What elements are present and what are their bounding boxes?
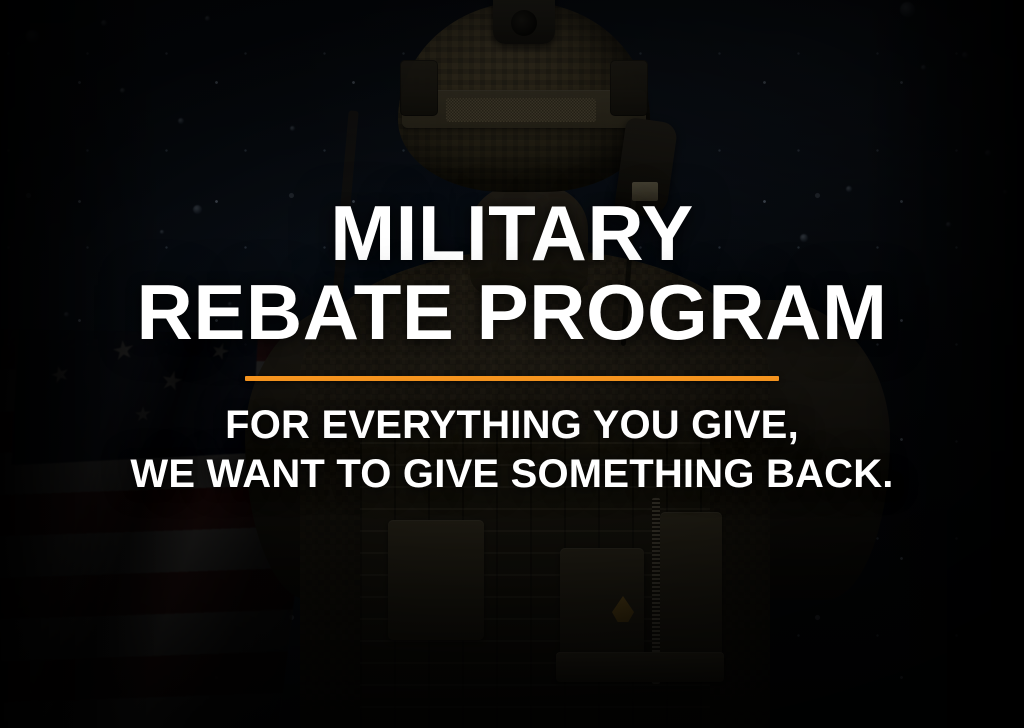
headline-line-2: REBATE PROGRAM	[137, 275, 888, 350]
subheadline-line-1: FOR EVERYTHING YOU GIVE,	[225, 403, 799, 449]
subheadline-line-2: WE WANT TO GIVE SOMETHING BACK.	[130, 452, 893, 498]
orange-divider	[245, 376, 779, 381]
banner-content: MILITARY REBATE PROGRAM FOR EVERYTHING Y…	[0, 0, 1024, 728]
headline-line-1: MILITARY	[330, 196, 694, 271]
military-rebate-banner: ★ ★ ★ ★ ★	[0, 0, 1024, 728]
